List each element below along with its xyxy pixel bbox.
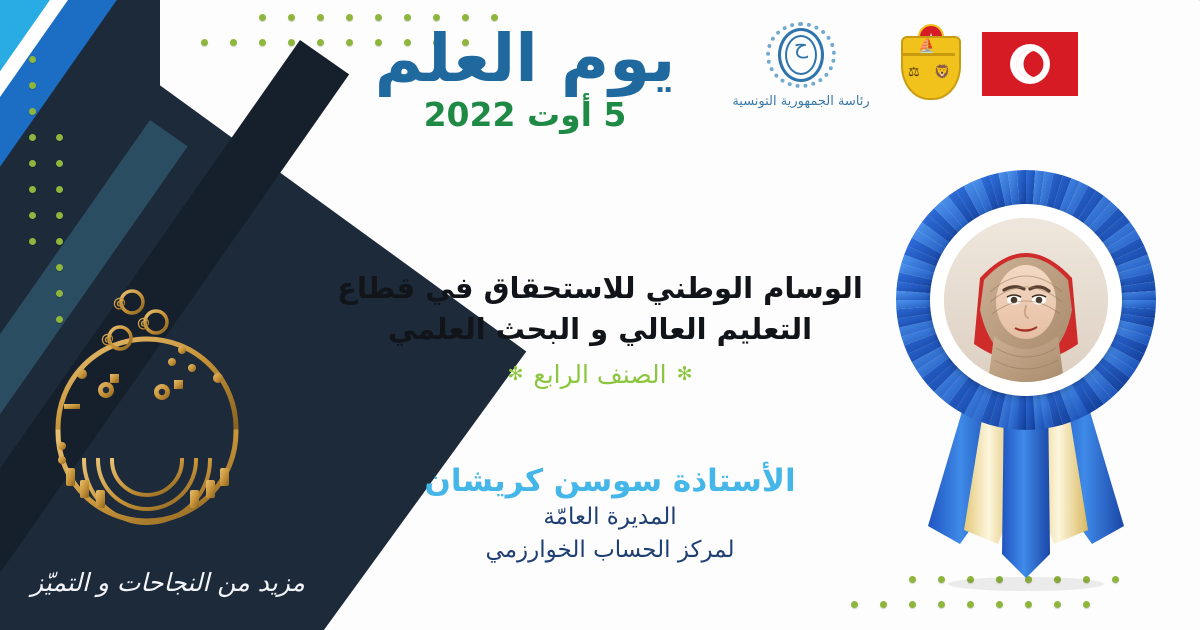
presidency-logo-label: رئاسة الجمهورية التونسية [726,94,876,109]
award-title-line-1: الوسام الوطني للاستحقاق في قطاع [300,268,900,309]
tunisia-coat-of-arms-icon: ★ ⛵ ⚖ 🦁 [890,26,968,100]
award-class-label: الصنف الرابع [533,360,666,389]
star-ornament-left: ✻ [497,363,533,385]
star-ornament-right: ✻ [667,363,703,385]
science-day-title-block: يوم العلم 5 أوت 2022 [360,28,690,134]
footer-motto: مزيد من النجاحات و التميّز [8,568,328,597]
presidency-crest-icon: ح [766,22,836,88]
recipient-role: المديرة العامّة [380,501,840,534]
khawarizmi-kufic-emblem: @ @ @ [22,232,272,552]
tunisian-presidency-logo: ح رئاسة الجمهورية التونسية [726,22,876,109]
award-rosette [876,168,1176,598]
svg-text:@: @ [113,296,126,311]
event-date: 5 أوت 2022 [360,95,690,134]
award-title-block: الوسام الوطني للاستحقاق في قطاع التعليم … [300,268,900,389]
tunisia-flag-icon: ★ [982,32,1078,96]
science-day-award-poster: @ @ @ [0,0,1200,630]
recipient-avatar [944,218,1108,382]
rosette-badge [894,168,1158,432]
award-class-badge: ✻الصنف الرابع✻ [300,360,900,389]
official-logos-row: ح رئاسة الجمهورية التونسية ★ ⛵ ⚖ 🦁 ★ [726,22,1186,142]
svg-text:@: @ [101,332,114,347]
page-title: يوم العلم [360,28,690,91]
recipient-organisation: لمركز الحساب الخوارزمي [380,534,840,567]
award-title-line-2: التعليم العالي و البحث العلمي [300,309,900,350]
svg-text:@: @ [137,316,150,331]
recipient-block: الأستاذة سوسن كريشان المديرة العامّة لمر… [380,462,840,567]
recipient-name: الأستاذة سوسن كريشان [380,462,840,501]
